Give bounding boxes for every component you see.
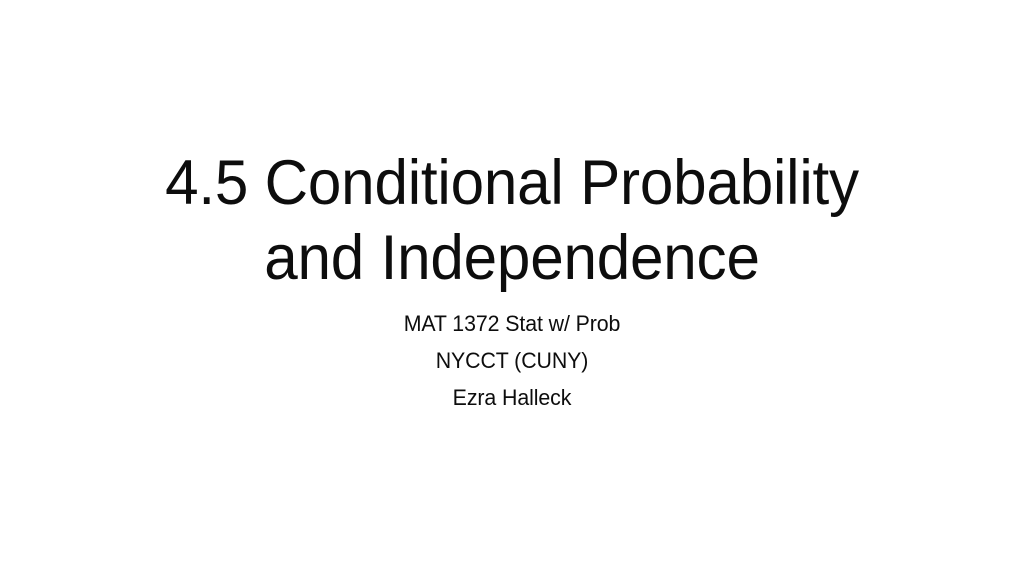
title-slide: 4.5 Conditional Probability and Independ… bbox=[0, 0, 1024, 576]
slide-title: 4.5 Conditional Probability and Independ… bbox=[23, 146, 1001, 296]
subtitle-placeholder[interactable]: MAT 1372 Stat w/ Prob NYCCT (CUNY) Ezra … bbox=[0, 305, 1024, 416]
subtitle-author: Ezra Halleck bbox=[15, 379, 1008, 416]
subtitle-course: MAT 1372 Stat w/ Prob bbox=[15, 305, 1008, 342]
slide-title-line-2: and Independence bbox=[23, 221, 1001, 296]
slide-title-line-1: 4.5 Conditional Probability bbox=[23, 146, 1001, 221]
title-placeholder[interactable]: 4.5 Conditional Probability and Independ… bbox=[0, 146, 1024, 296]
subtitle-institution: NYCCT (CUNY) bbox=[15, 342, 1008, 379]
